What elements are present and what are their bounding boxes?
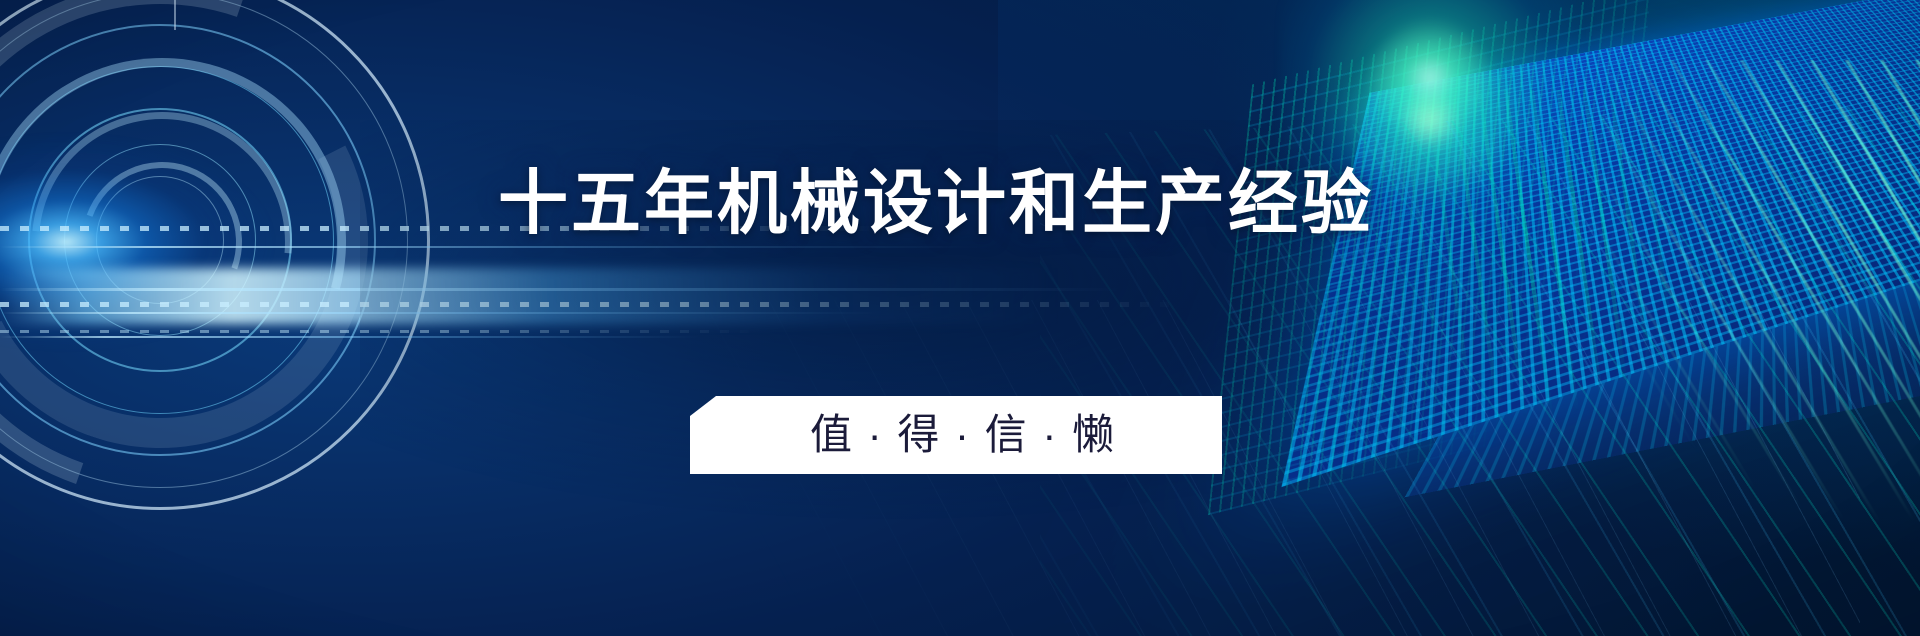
hero-banner: 十五年机械设计和生产经验 值 · 得 · 信 · 懒	[0, 0, 1920, 636]
light-beam-thin	[0, 288, 1120, 291]
hud-bracket	[104, 0, 176, 30]
tagline-text: 值 · 得 · 信 · 懒	[796, 414, 1116, 456]
page-title: 十五年机械设计和生产经验	[498, 168, 1374, 238]
light-beam-thin	[0, 246, 980, 248]
hud-circle-graphic	[0, 0, 442, 522]
tagline-badge: 值 · 得 · 信 · 懒	[690, 396, 1222, 474]
